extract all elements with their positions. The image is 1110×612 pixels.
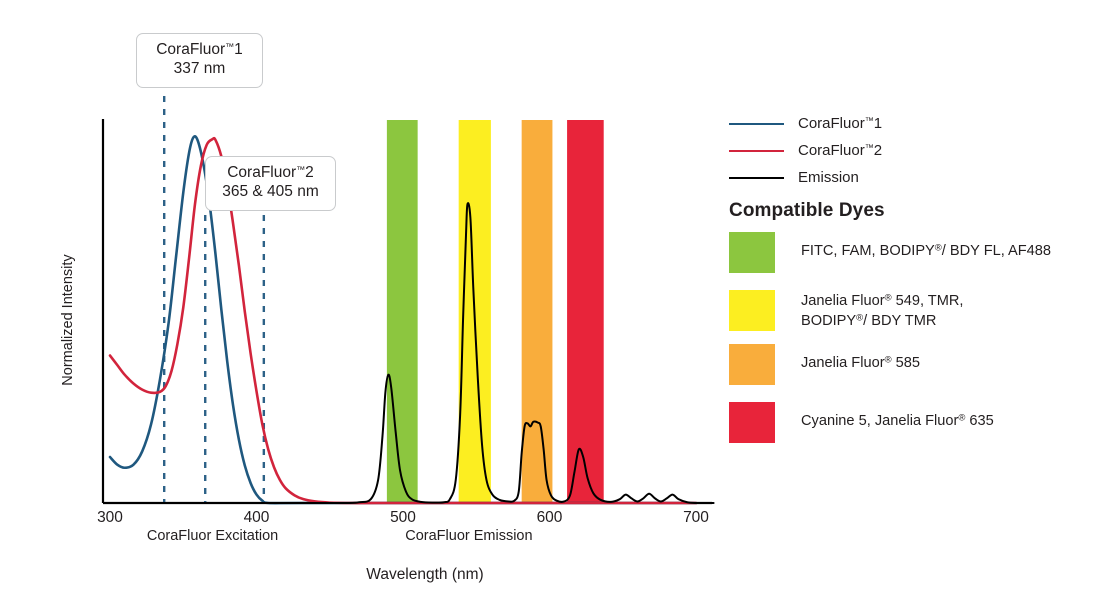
dye-color-swatch xyxy=(729,290,775,331)
region-label-excitation: CoraFluor Excitation xyxy=(98,528,328,544)
legend-item-label: Emission xyxy=(798,169,859,186)
compatible-dyes-list: FITC, FAM, BODIPY®/ BDY FL, AF488Janelia… xyxy=(729,232,1099,460)
callout-corafluor2-line1: CoraFluor™2 xyxy=(218,164,323,183)
dye-color-swatch xyxy=(729,232,775,273)
legend-swatch-line xyxy=(729,177,784,179)
orange-band xyxy=(522,120,553,503)
callout-corafluor1: CoraFluor™1 337 nm xyxy=(136,33,263,88)
dye-label-line: Janelia Fluor® 585 xyxy=(801,354,920,374)
y-axis-label: Normalized Intensity xyxy=(60,230,76,410)
legend-swatch-line xyxy=(729,150,784,152)
x-tick-label-700: 700 xyxy=(666,509,726,527)
compatible-dyes-title: Compatible Dyes xyxy=(729,200,885,222)
dye-color-swatch xyxy=(729,344,775,385)
dye-label-line: FITC, FAM, BODIPY®/ BDY FL, AF488 xyxy=(801,242,1051,262)
region-label-emission: CoraFluor Emission xyxy=(354,528,584,544)
fluorescence-spectra-figure: CoraFluor™1 337 nm CoraFluor™2 365 & 405… xyxy=(0,0,1110,612)
dye-row-2: Janelia Fluor® 585 xyxy=(729,344,1099,385)
x-tick-label-600: 600 xyxy=(520,509,580,527)
x-axis-label: Wavelength (nm) xyxy=(305,566,545,584)
red-band xyxy=(567,120,604,503)
dye-label: Janelia Fluor® 585 xyxy=(801,344,920,374)
callout-corafluor1-line1: CoraFluor™1 xyxy=(149,41,250,60)
callout-corafluor2: CoraFluor™2 365 & 405 nm xyxy=(205,156,336,211)
callout-corafluor2-line2: 365 & 405 nm xyxy=(218,183,323,202)
dye-row-1: Janelia Fluor® 549, TMR,BODIPY®/ BDY TMR xyxy=(729,290,1099,331)
x-tick-label-300: 300 xyxy=(80,509,140,527)
legend-item-corafluor1: CoraFluor™1 xyxy=(729,110,1059,137)
dye-label-line: BODIPY®/ BDY TMR xyxy=(801,312,963,332)
dye-row-0: FITC, FAM, BODIPY®/ BDY FL, AF488 xyxy=(729,232,1099,273)
legend-item-emission: Emission xyxy=(729,164,1059,191)
emission-filter-bands xyxy=(387,120,604,503)
green-band xyxy=(387,120,418,503)
dye-label-line: Janelia Fluor® 549, TMR, xyxy=(801,292,963,312)
x-tick-label-400: 400 xyxy=(227,509,287,527)
legend-swatch-line xyxy=(729,123,784,125)
series-legend: CoraFluor™1CoraFluor™2Emission xyxy=(729,110,1059,191)
dye-row-3: Cyanine 5, Janelia Fluor® 635 xyxy=(729,402,1099,443)
legend-item-label: CoraFluor™1 xyxy=(798,115,882,132)
dye-label-line: Cyanine 5, Janelia Fluor® 635 xyxy=(801,412,994,432)
dye-label: FITC, FAM, BODIPY®/ BDY FL, AF488 xyxy=(801,232,1051,262)
legend-item-corafluor2: CoraFluor™2 xyxy=(729,137,1059,164)
legend-item-label: CoraFluor™2 xyxy=(798,142,882,159)
dye-label: Janelia Fluor® 549, TMR,BODIPY®/ BDY TMR xyxy=(801,290,963,331)
dye-color-swatch xyxy=(729,402,775,443)
callout-corafluor1-line2: 337 nm xyxy=(149,60,250,79)
dye-label: Cyanine 5, Janelia Fluor® 635 xyxy=(801,402,994,432)
x-tick-label-500: 500 xyxy=(373,509,433,527)
